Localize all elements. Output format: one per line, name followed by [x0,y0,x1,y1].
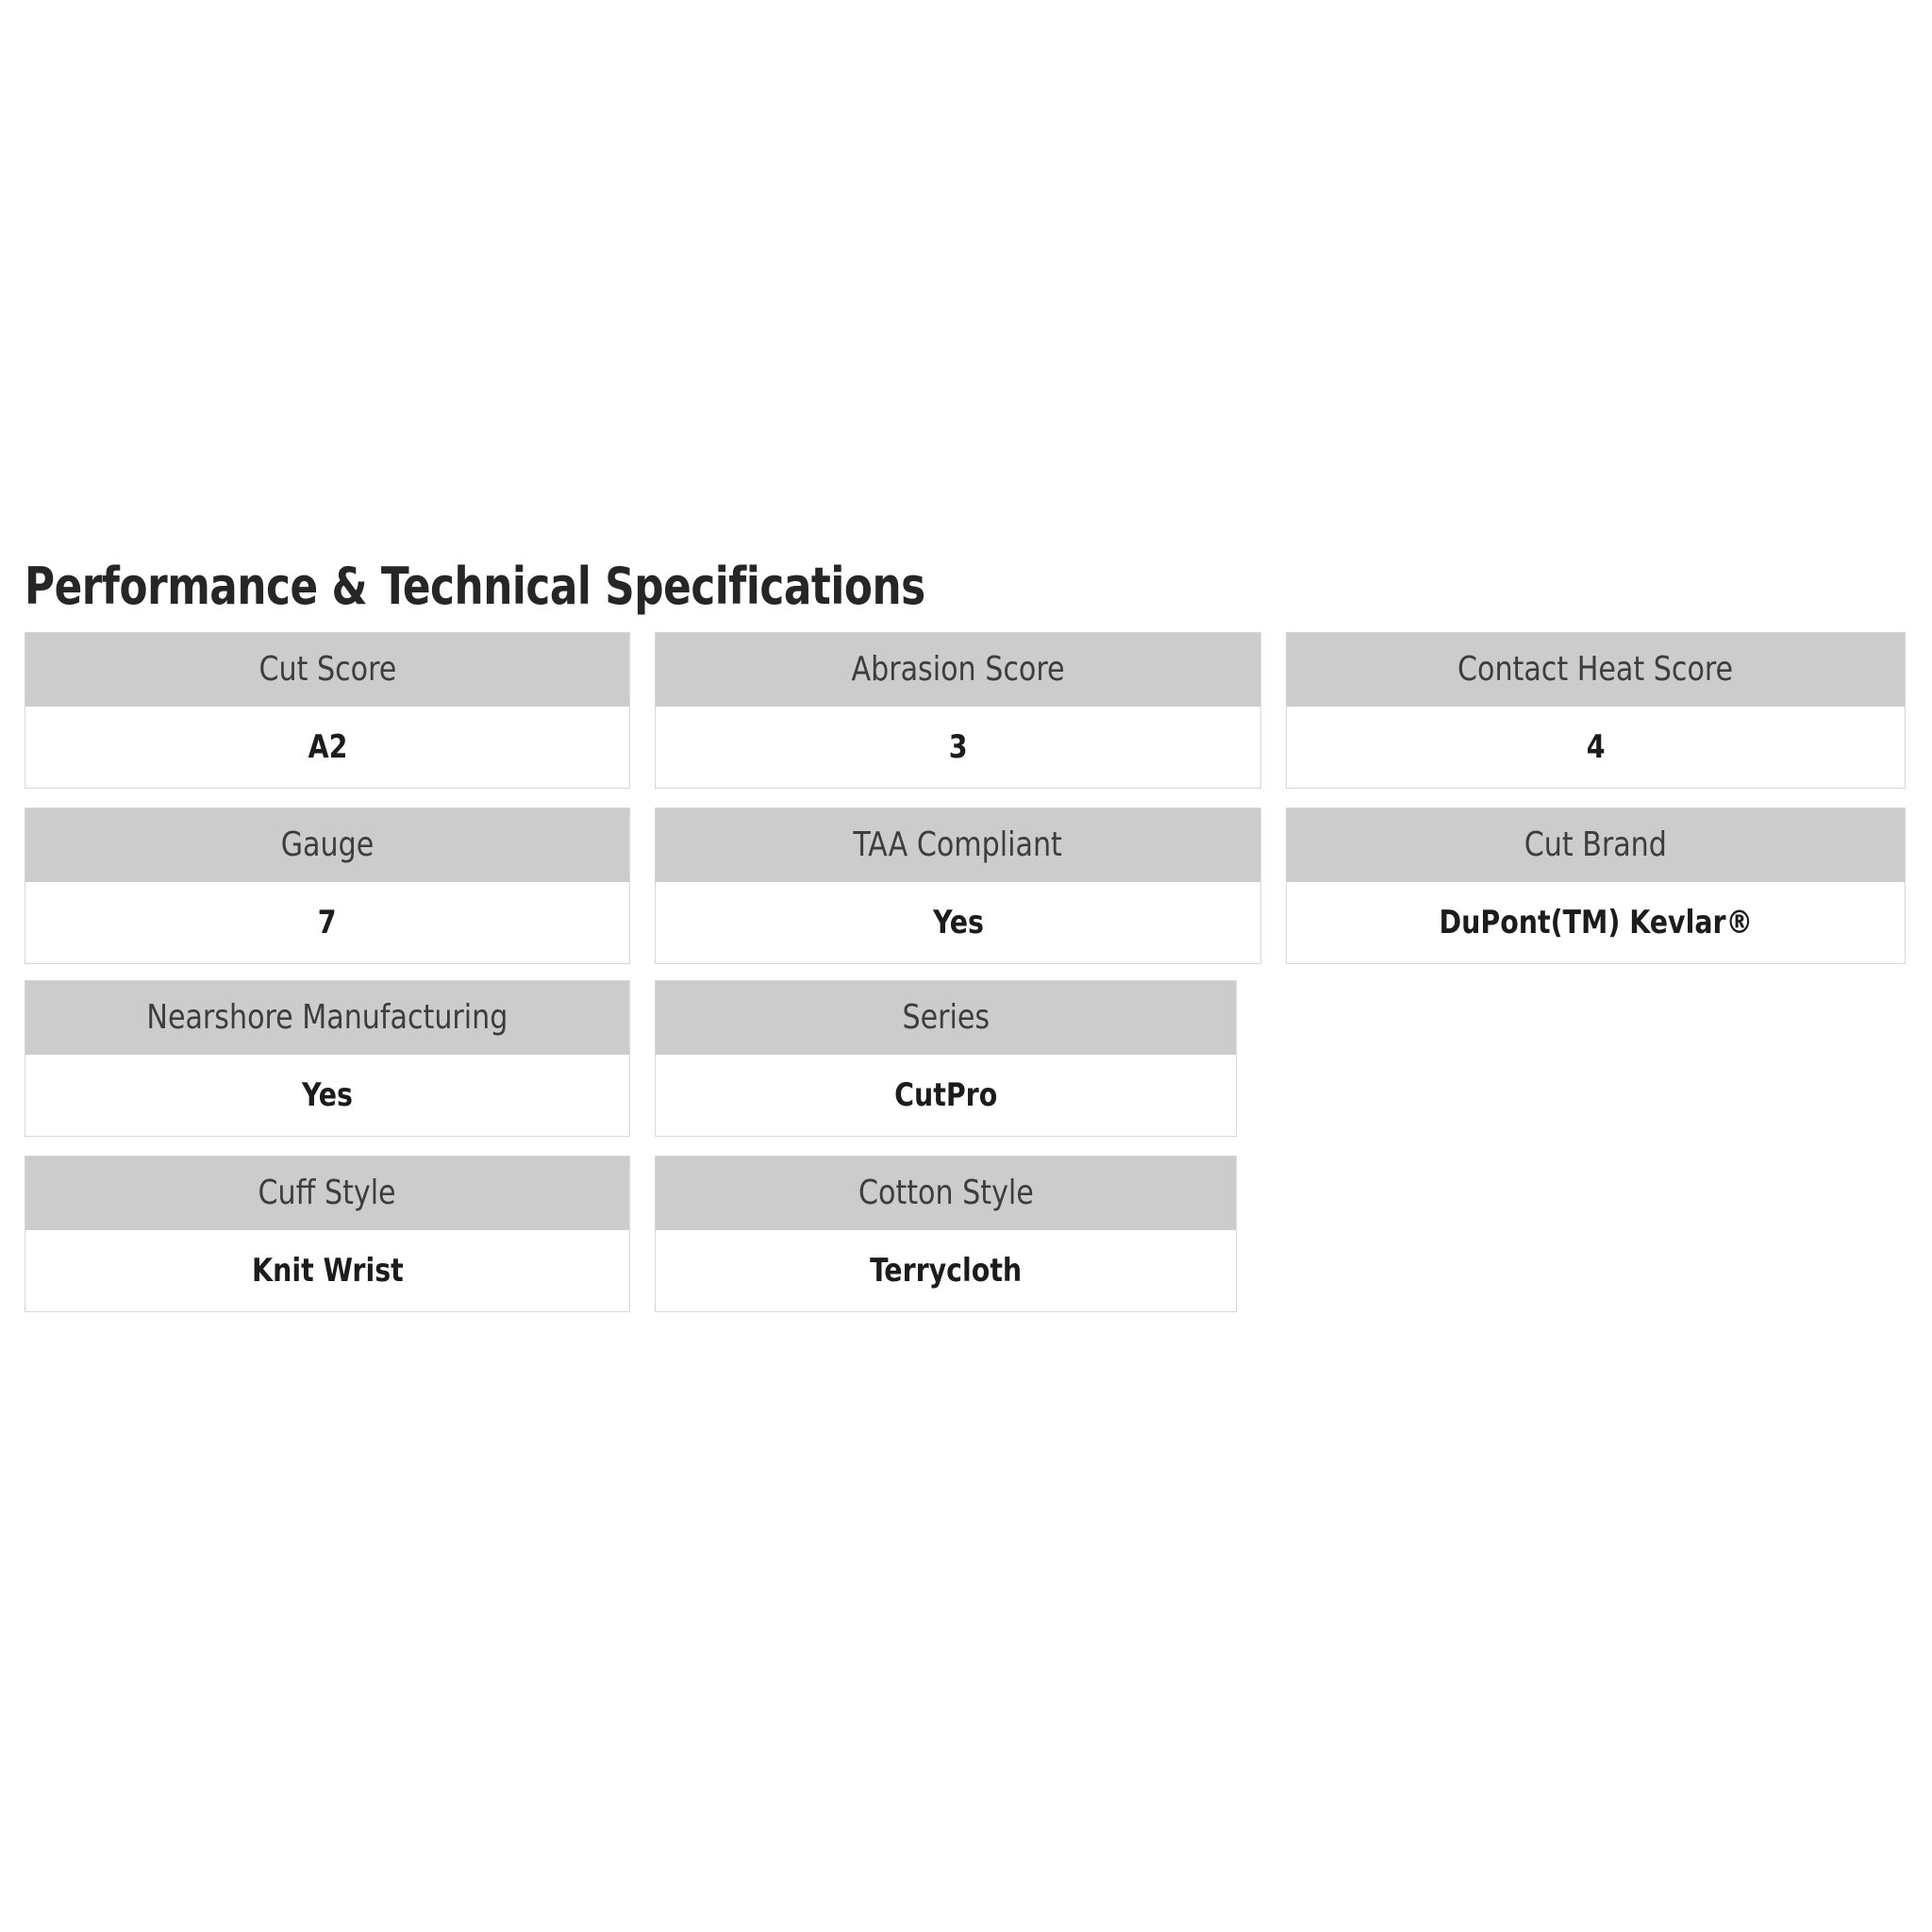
spec-card-body: Knit Wrist [25,1230,629,1311]
spec-card-label: Abrasion Score [852,651,1065,689]
spec-card-label: TAA Compliant [854,826,1063,864]
spec-card-body: A2 [25,707,629,788]
spec-card-cut-score: Cut Score A2 [25,632,630,789]
spec-card-value: 3 [949,729,968,765]
spec-row: Cut Score A2 Abrasion Score 3 Contact He… [25,632,1911,789]
spec-page: Performance & Technical Specifications C… [0,0,1932,1932]
spec-card-label: Nearshore Manufacturing [147,999,508,1037]
spec-card-body: 3 [656,707,1260,788]
spec-card-label: Cut Brand [1524,826,1667,864]
spec-card-value: Yes [302,1077,353,1113]
spec-card-contact-heat-score: Contact Heat Score 4 [1286,632,1906,789]
spec-card-cotton-style: Cotton Style Terrycloth [655,1156,1237,1312]
spec-card-abrasion-score: Abrasion Score 3 [655,632,1261,789]
spec-card-body: Yes [656,882,1260,963]
spec-card-header: Abrasion Score [656,633,1260,707]
spec-card-series: Series CutPro [655,980,1237,1137]
spec-card-header: Cut Score [25,633,629,707]
spec-card-value: DuPont(TM) Kevlar® [1439,905,1753,941]
spec-card-header: Gauge [25,808,629,882]
spec-card-header: Cut Brand [1287,808,1905,882]
spec-row: Gauge 7 TAA Compliant Yes Cut Brand [25,808,1911,964]
spec-card-value: A2 [308,729,347,765]
spec-card-label: Gauge [281,826,375,864]
spec-card-value: CutPro [894,1077,997,1113]
spec-card-nearshore-manufacturing: Nearshore Manufacturing Yes [25,980,630,1137]
specifications-grid: Cut Score A2 Abrasion Score 3 Contact He… [25,632,1911,1312]
spec-card-body: CutPro [656,1055,1236,1136]
spec-card-body: Terrycloth [656,1230,1236,1311]
spec-card-taa-compliant: TAA Compliant Yes [655,808,1261,964]
spec-card-value: Terrycloth [870,1253,1022,1289]
spec-card-label: Series [902,999,990,1037]
spec-card-label: Cotton Style [858,1174,1034,1212]
spec-row: Nearshore Manufacturing Yes Series CutPr… [25,980,1911,1137]
spec-card-label: Cut Score [258,651,396,689]
spec-card-header: Series [656,981,1236,1055]
spec-card-body: 4 [1287,707,1905,788]
page-title: Performance & Technical Specifications [25,557,925,617]
spec-card-cuff-style: Cuff Style Knit Wrist [25,1156,630,1312]
spec-row: Cuff Style Knit Wrist Cotton Style Terry… [25,1156,1911,1312]
spec-card-body: DuPont(TM) Kevlar® [1287,882,1905,963]
spec-card-value: Knit Wrist [252,1253,404,1289]
spec-card-header: Nearshore Manufacturing [25,981,629,1055]
spec-card-header: Contact Heat Score [1287,633,1905,707]
spec-card-header: Cuff Style [25,1157,629,1230]
spec-card-cut-brand: Cut Brand DuPont(TM) Kevlar® [1286,808,1906,964]
spec-card-body: 7 [25,882,629,963]
spec-card-value: 7 [318,905,337,941]
spec-card-value: Yes [933,905,984,941]
spec-card-header: TAA Compliant [656,808,1260,882]
spec-card-label: Cuff Style [258,1174,396,1212]
spec-card-value: 4 [1587,729,1606,765]
spec-card-body: Yes [25,1055,629,1136]
spec-card-gauge: Gauge 7 [25,808,630,964]
spec-card-label: Contact Heat Score [1457,651,1733,689]
spec-card-header: Cotton Style [656,1157,1236,1230]
